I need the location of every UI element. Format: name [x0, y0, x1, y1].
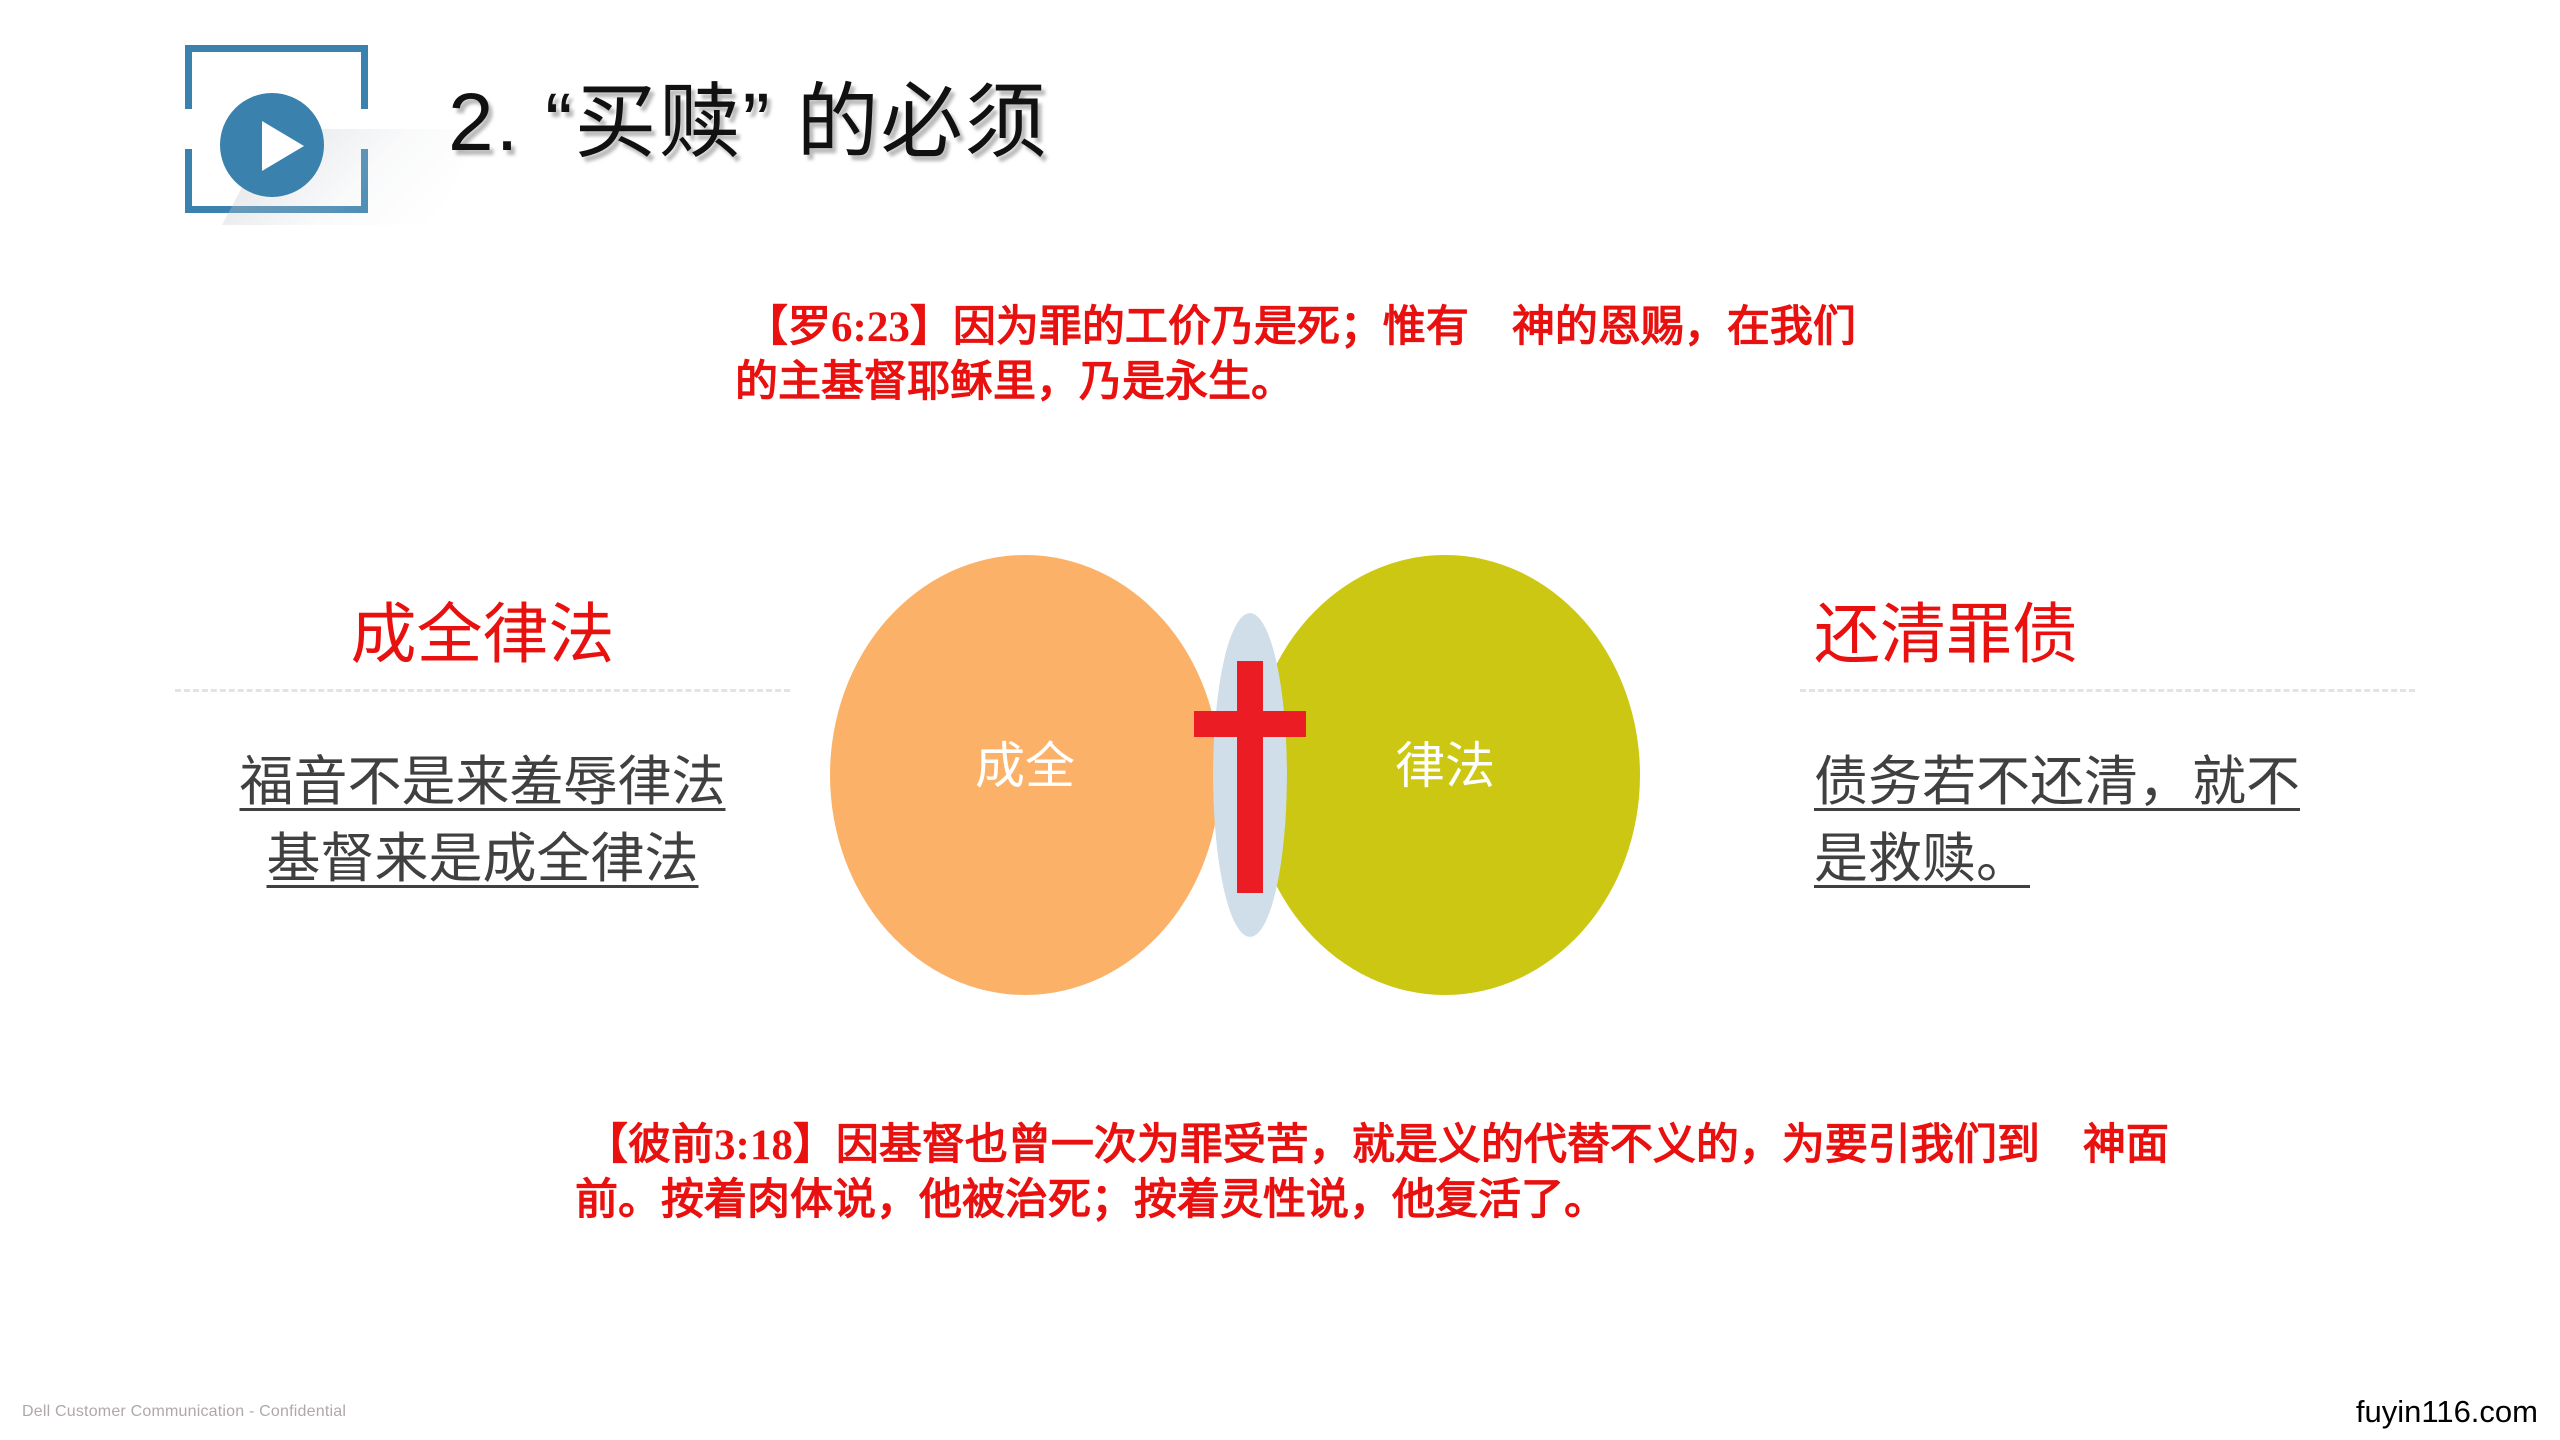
left-column-heading: 成全律法 — [175, 600, 790, 671]
left-column-line-1: 福音不是来羞辱律法 — [175, 744, 790, 821]
page-title: 2. “买赎” 的必须 — [448, 82, 1049, 164]
scripture-romans-6-23: 【罗6:23】因为罪的工价乃是死；惟有 神的恩赐，在我们的主基督耶稣里，乃是永生… — [735, 300, 1895, 410]
play-button-icon — [220, 93, 324, 197]
venn-label-left: 成全 — [830, 741, 1220, 791]
right-column-heading: 还清罪债 — [1800, 600, 2415, 671]
right-column-divider — [1800, 689, 2415, 692]
slide-logo — [185, 45, 380, 225]
confidentiality-footer: Dell Customer Communication - Confidenti… — [22, 1403, 346, 1421]
right-column-line-2: 是救赎。 — [1814, 821, 2415, 898]
play-triangle-icon — [262, 121, 304, 171]
right-column-line-1: 债务若不还清，就不 — [1814, 744, 2415, 821]
venn-diagram: 成全 律法 — [830, 555, 1730, 995]
frame-bar-top — [185, 45, 368, 52]
left-column-divider — [175, 689, 790, 692]
frame-bar-left-top — [185, 45, 192, 109]
right-column: 还清罪债 债务若不还清，就不 是救赎。 — [1800, 600, 2415, 898]
cross-horizontal-bar — [1194, 711, 1306, 737]
frame-bar-left-bottom — [185, 149, 192, 213]
frame-bar-bottom — [185, 206, 368, 213]
site-watermark: fuyin116.com — [2356, 1394, 2538, 1430]
left-column: 成全律法 福音不是来羞辱律法 基督来是成全律法 — [175, 600, 790, 898]
right-column-body: 债务若不还清，就不 是救赎。 — [1800, 744, 2415, 897]
scripture-1peter-3-18: 【彼前3:18】因基督也曾一次为罪受苦，就是义的代替不义的，为要引我们到 神面前… — [575, 1118, 2175, 1228]
frame-bar-right-top — [361, 45, 368, 109]
left-column-line-2: 基督来是成全律法 — [175, 821, 790, 898]
left-column-body: 福音不是来羞辱律法 基督来是成全律法 — [175, 744, 790, 897]
frame-bar-right-bottom — [361, 149, 368, 213]
venn-label-right: 律法 — [1250, 741, 1640, 791]
